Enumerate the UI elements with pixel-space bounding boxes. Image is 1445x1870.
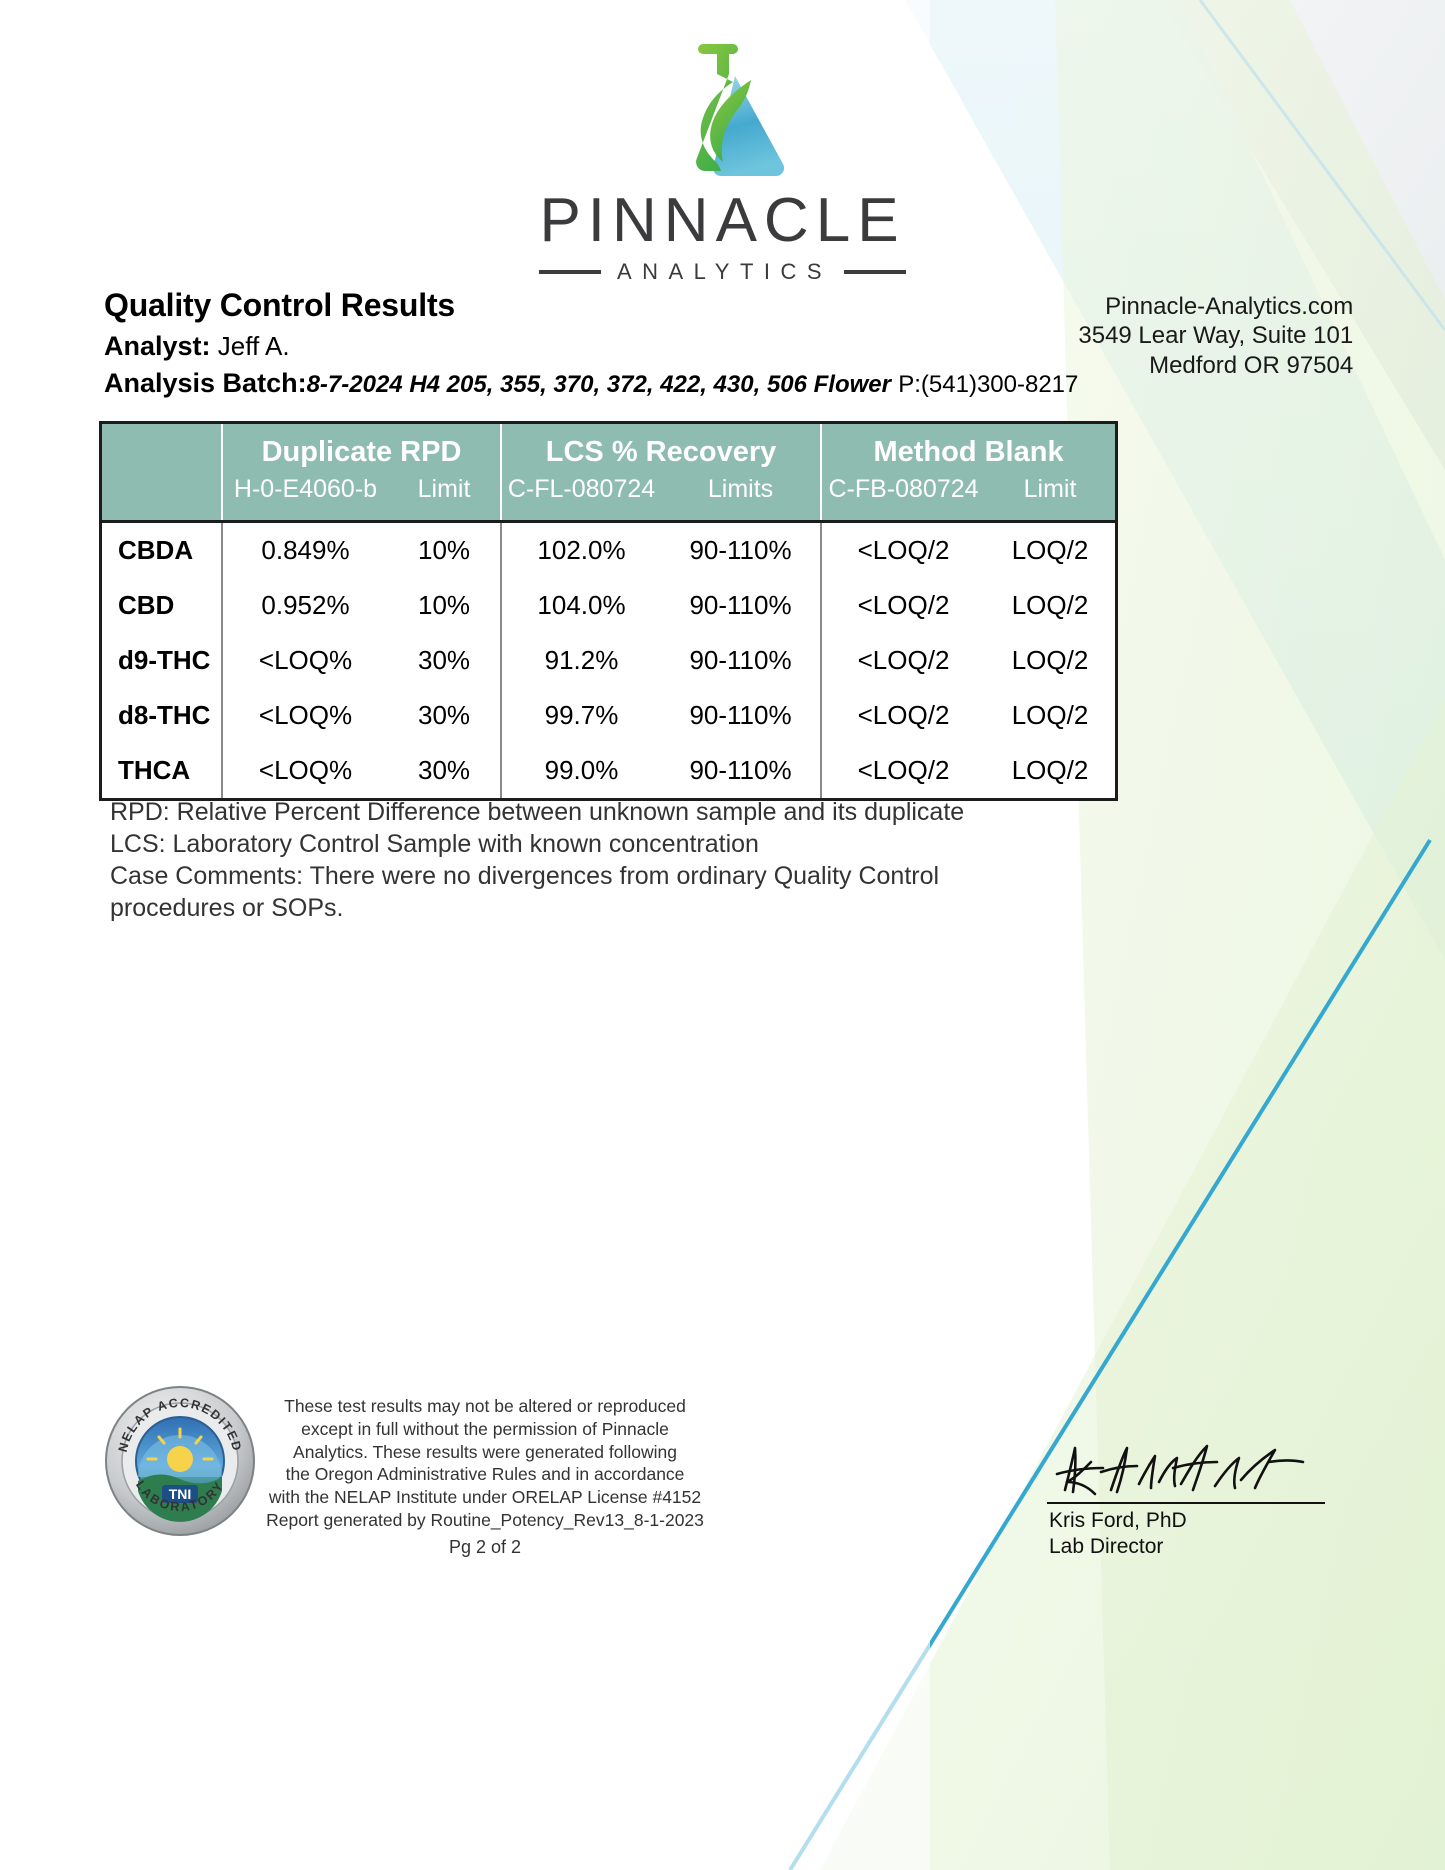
cell-rpd-limit: 10% [388, 522, 501, 579]
cell-blank-limit: LOQ/2 [985, 633, 1115, 688]
website[interactable]: Pinnacle-Analytics.com [1078, 292, 1353, 321]
analyst-label: Analyst: [104, 331, 211, 361]
group-header-blank [102, 424, 222, 473]
cell-rpd-limit: 30% [388, 688, 501, 743]
cell-analyte: CBD [102, 578, 222, 633]
cell-rpd-limit: 10% [388, 578, 501, 633]
cell-blank-limit: LOQ/2 [985, 688, 1115, 743]
note-case-comments-2: procedures or SOPs. [110, 892, 1120, 924]
table-body: CBDA 0.849% 10% 102.0% 90-110% <LOQ/2 LO… [102, 522, 1115, 799]
cell-lcs: 102.0% [501, 522, 661, 579]
note-lcs: LCS: Laboratory Control Sample with know… [110, 828, 1120, 860]
note-case-comments-1: Case Comments: There were no divergences… [110, 860, 1120, 892]
table-head: Duplicate RPD LCS % Recovery Method Blan… [102, 424, 1115, 522]
cell-blank-limit: LOQ/2 [985, 743, 1115, 798]
cell-rpd: <LOQ% [222, 633, 388, 688]
report-header: Quality Control Results Analyst: Jeff A.… [104, 287, 1344, 400]
analysis-batch-value: 8-7-2024 H4 205, 355, 370, 372, 422, 430… [307, 371, 891, 398]
flask-leaf-icon [659, 38, 787, 186]
note-rpd: RPD: Relative Percent Difference between… [110, 796, 1120, 828]
cell-rpd: <LOQ% [222, 688, 388, 743]
cell-rpd: 0.952% [222, 578, 388, 633]
cell-rpd: 0.849% [222, 522, 388, 579]
cell-lcs: 91.2% [501, 633, 661, 688]
cell-lcs: 99.7% [501, 688, 661, 743]
subheader-blank-limit: Limit [985, 473, 1115, 522]
cell-lcs-limits: 90-110% [661, 743, 821, 798]
table-row: d9-THC <LOQ% 30% 91.2% 90-110% <LOQ/2 LO… [102, 633, 1115, 688]
subheader-lcs-limits: Limits [661, 473, 821, 522]
header-left: Quality Control Results Analyst: Jeff A.… [104, 287, 1078, 400]
table-row: THCA <LOQ% 30% 99.0% 90-110% <LOQ/2 LOQ/… [102, 743, 1115, 798]
handwritten-signature-icon [1055, 1440, 1310, 1502]
signer-title: Lab Director [1049, 1534, 1335, 1560]
table-row: CBD 0.952% 10% 104.0% 90-110% <LOQ/2 LOQ… [102, 578, 1115, 633]
signature-block: Kris Ford, PhD Lab Director [1035, 1440, 1335, 1559]
cell-blank: <LOQ/2 [821, 743, 985, 798]
disclaimer-line-6: Report generated by Routine_Potency_Rev1… [255, 1509, 715, 1532]
cell-rpd-limit: 30% [388, 633, 501, 688]
group-header-duplicate-rpd: Duplicate RPD [222, 424, 501, 473]
cell-blank-limit: LOQ/2 [985, 522, 1115, 579]
cell-blank: <LOQ/2 [821, 688, 985, 743]
logo-subtitle-group: ANALYTICS [539, 259, 906, 285]
page-title: Quality Control Results [104, 287, 1078, 325]
subheader-rpd-sample: H-0-E4060-b [222, 473, 388, 522]
table-notes: RPD: Relative Percent Difference between… [110, 796, 1120, 924]
cell-lcs-limits: 90-110% [661, 522, 821, 579]
disclaimer-text: These test results may not be altered or… [255, 1395, 715, 1532]
subheader-blank-sample: C-FB-080724 [821, 473, 985, 522]
analysis-batch-field: Analysis Batch:8-7-2024 H4 205, 355, 370… [104, 367, 1078, 400]
report-page: PINNACLE ANALYTICS Quality Control Resul… [0, 0, 1445, 1870]
cell-blank-limit: LOQ/2 [985, 578, 1115, 633]
cell-rpd-limit: 30% [388, 743, 501, 798]
disclaimer-line-5: with the NELAP Institute under ORELAP Li… [255, 1486, 715, 1509]
address-line-2: Medford OR 97504 [1078, 351, 1353, 380]
cell-analyte: d8-THC [102, 688, 222, 743]
phone-number: P:(541)300-8217 [898, 371, 1078, 398]
analysis-batch-label: Analysis Batch: [104, 368, 307, 398]
table-row: d8-THC <LOQ% 30% 99.7% 90-110% <LOQ/2 LO… [102, 688, 1115, 743]
cell-lcs-limits: 90-110% [661, 578, 821, 633]
header-contact-block: Pinnacle-Analytics.com 3549 Lear Way, Su… [1078, 287, 1353, 380]
subheader-lcs-sample: C-FL-080724 [501, 473, 661, 522]
cell-lcs-limits: 90-110% [661, 688, 821, 743]
table-group-header-row: Duplicate RPD LCS % Recovery Method Blan… [102, 424, 1115, 473]
cell-blank: <LOQ/2 [821, 633, 985, 688]
cell-lcs: 104.0% [501, 578, 661, 633]
cell-blank: <LOQ/2 [821, 578, 985, 633]
disclaimer-line-2: except in full without the permission of… [255, 1418, 715, 1441]
cell-analyte: d9-THC [102, 633, 222, 688]
nelap-accredited-laboratory-seal-icon: TNI NELAP ACCREDITED LABORATORY [104, 1385, 256, 1537]
cell-analyte: CBDA [102, 522, 222, 579]
analyst-value: Jeff A. [218, 331, 290, 361]
address-line-1: 3549 Lear Way, Suite 101 [1078, 321, 1353, 350]
subheader-analyte [102, 473, 222, 522]
cell-analyte: THCA [102, 743, 222, 798]
disclaimer-line-1: These test results may not be altered or… [255, 1395, 715, 1418]
disclaimer-line-3: Analytics. These results were generated … [255, 1441, 715, 1464]
logo-subtitle: ANALYTICS [613, 259, 832, 285]
cell-rpd: <LOQ% [222, 743, 388, 798]
logo-rule-left [539, 270, 601, 274]
cell-lcs: 99.0% [501, 743, 661, 798]
qc-results-table-container: Duplicate RPD LCS % Recovery Method Blan… [99, 421, 1118, 801]
disclaimer-line-4: the Oregon Administrative Rules and in a… [255, 1463, 715, 1486]
group-header-method-blank: Method Blank [821, 424, 1115, 473]
subheader-rpd-limit: Limit [388, 473, 501, 522]
cell-blank: <LOQ/2 [821, 522, 985, 579]
group-header-lcs-recovery: LCS % Recovery [501, 424, 821, 473]
signature-rule [1047, 1502, 1325, 1504]
analyst-field: Analyst: Jeff A. [104, 330, 1078, 363]
qc-results-table: Duplicate RPD LCS % Recovery Method Blan… [102, 424, 1115, 798]
company-logo: PINNACLE ANALYTICS [0, 38, 1445, 285]
logo-rule-right [844, 270, 906, 274]
cell-lcs-limits: 90-110% [661, 633, 821, 688]
table-row: CBDA 0.849% 10% 102.0% 90-110% <LOQ/2 LO… [102, 522, 1115, 579]
signer-name: Kris Ford, PhD [1049, 1508, 1335, 1534]
page-number: Pg 2 of 2 [255, 1537, 715, 1558]
table-subheader-row: H-0-E4060-b Limit C-FL-080724 Limits C-F… [102, 473, 1115, 522]
logo-wordmark: PINNACLE [539, 190, 905, 252]
